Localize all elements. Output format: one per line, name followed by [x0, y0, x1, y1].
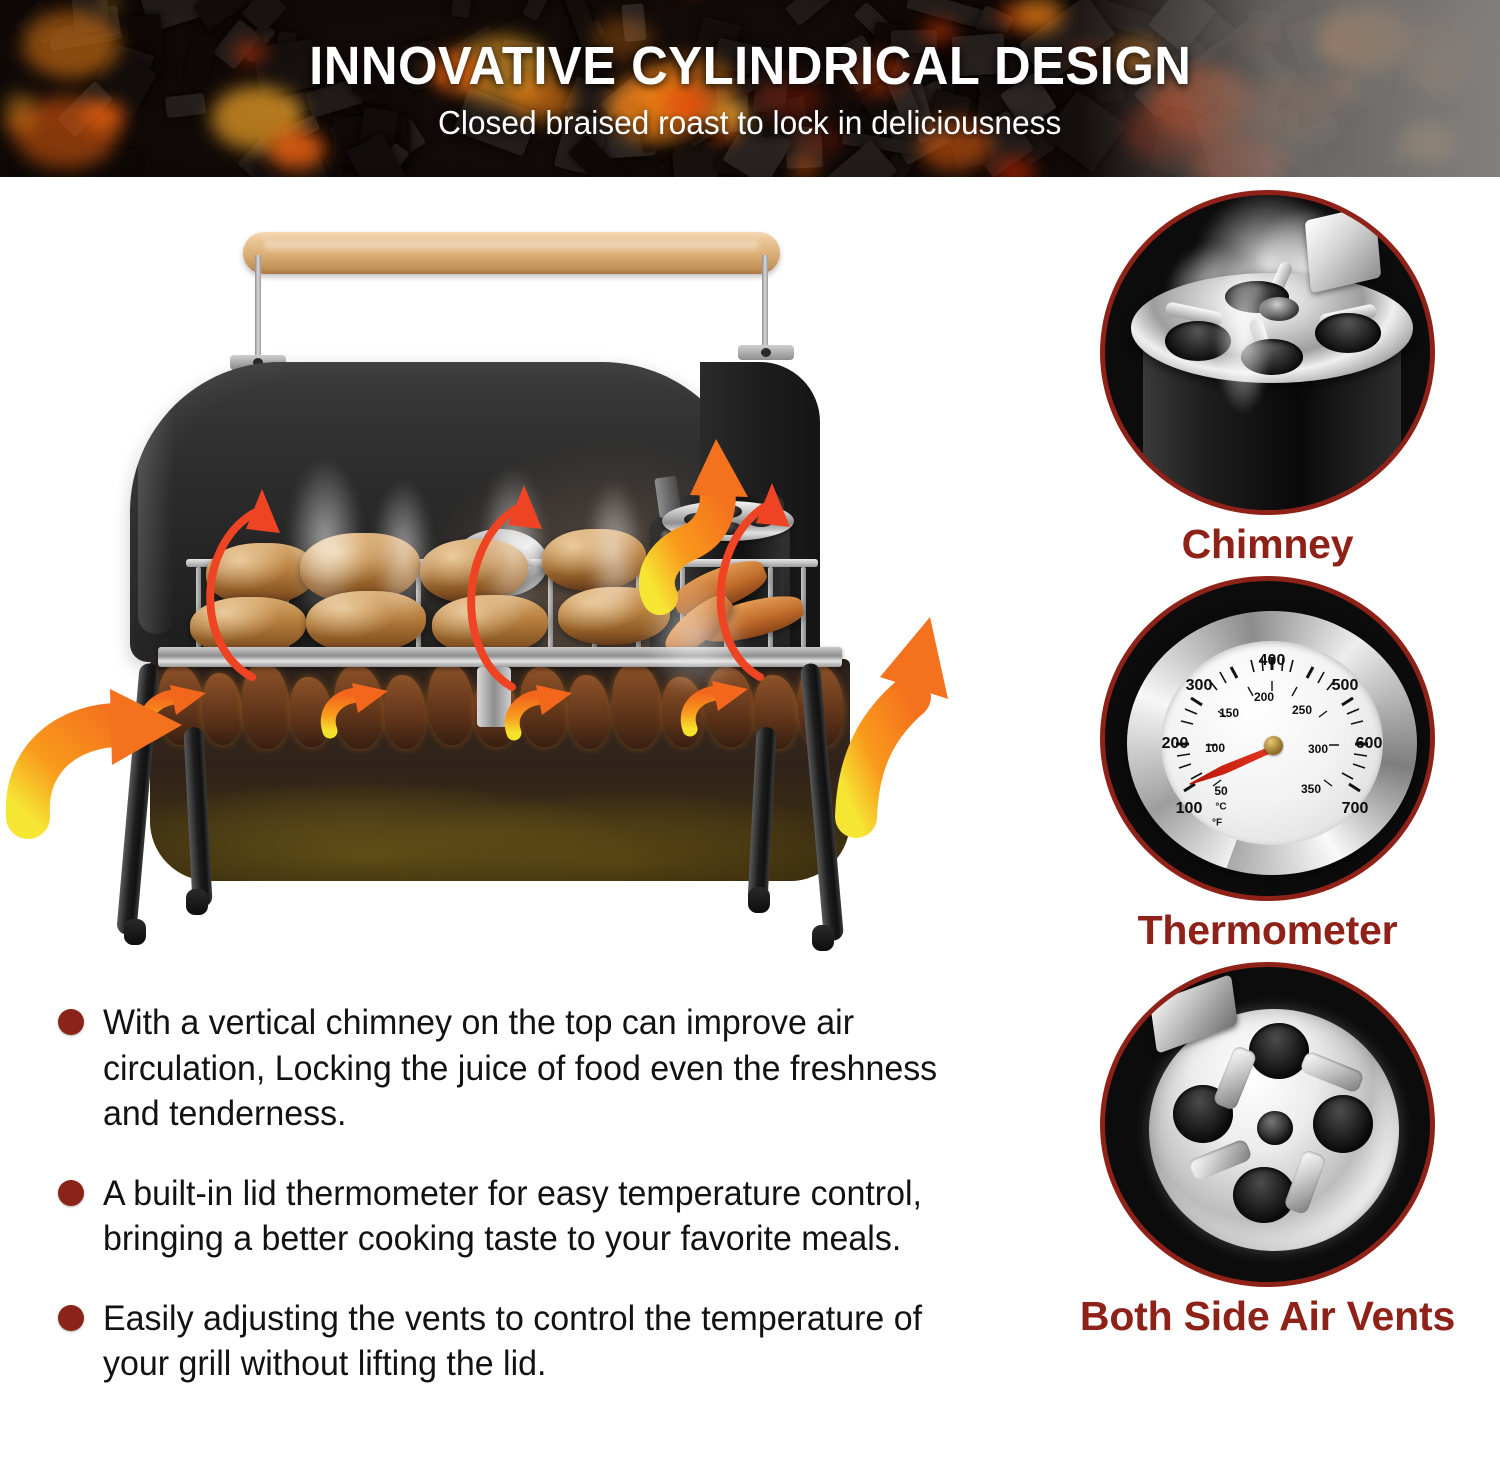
therm-f-700: 700	[1342, 800, 1369, 818]
product-illustration	[0, 177, 1010, 992]
thermometer-photo-circle: 100 200 300 400 500 600 700 50 100 150 2…	[1100, 576, 1435, 901]
thermometer-face: 100 200 300 400 500 600 700 50 100 150 2…	[1161, 641, 1383, 845]
therm-unit-celsius: °C	[1215, 802, 1226, 813]
bullet-dot-icon	[58, 1180, 84, 1206]
bullet-text: Easily adjusting the vents to control th…	[103, 1296, 952, 1387]
leg-foot	[812, 925, 834, 951]
therm-c-200: 200	[1254, 690, 1274, 704]
vent-hole	[1233, 1167, 1295, 1223]
bullet-dot-icon	[58, 1009, 84, 1035]
chimney-photo-circle	[1100, 190, 1435, 515]
bullet-text: A built-in lid thermometer for easy temp…	[103, 1171, 952, 1262]
vent-hole	[1313, 1095, 1373, 1153]
smoke-wisp	[640, 577, 750, 697]
banner-subtitle: Closed braised roast to lock in deliciou…	[438, 104, 1061, 142]
therm-c-300: 300	[1308, 742, 1328, 756]
vent-slot	[1212, 1045, 1257, 1111]
smoke-wisp	[478, 463, 548, 629]
list-item: With a vertical chimney on the top can i…	[58, 1000, 978, 1137]
leg-foot	[748, 887, 770, 913]
therm-f-600: 600	[1356, 735, 1383, 753]
therm-c-250: 250	[1292, 703, 1312, 717]
wooden-handle	[243, 232, 780, 274]
chimney-damper-tab	[1305, 205, 1381, 294]
handle-mount-right	[738, 345, 794, 360]
list-item: Easily adjusting the vents to control th…	[58, 1296, 978, 1387]
vent-center-screw	[1257, 1111, 1293, 1145]
header-banner: INNOVATIVE CYLINDRICAL DESIGN Closed bra…	[0, 0, 1500, 177]
feature-bullet-list: With a vertical chimney on the top can i…	[58, 1000, 978, 1421]
leg-foot	[186, 889, 208, 915]
vent-hole	[1249, 1023, 1309, 1079]
therm-f-100: 100	[1176, 800, 1203, 818]
therm-f-400: 400	[1259, 652, 1286, 670]
vent-hole	[716, 522, 742, 535]
thermometer-bezel: 100 200 300 400 500 600 700 50 100 150 2…	[1127, 611, 1417, 875]
feature-thermometer: 100 200 300 400 500 600 700 50 100 150 2…	[1035, 576, 1500, 954]
banner-title: INNOVATIVE CYLINDRICAL DESIGN	[309, 39, 1191, 94]
air-vent-photo-circle	[1100, 962, 1435, 1287]
feature-callout-column: Chimney	[1035, 190, 1500, 1348]
air-vent-damper-disc	[1149, 1009, 1399, 1251]
smoke-wisp	[286, 455, 364, 625]
vent-slot	[1299, 1050, 1365, 1094]
grate-latch	[477, 667, 511, 727]
smoke-wisp	[372, 477, 434, 627]
therm-f-300: 300	[1186, 677, 1213, 695]
circle-ring	[1100, 962, 1435, 1287]
vent-hole	[716, 505, 742, 518]
therm-unit-fahrenheit: °F	[1212, 818, 1222, 829]
feature-air-vents: Both Side Air Vents	[1035, 962, 1500, 1340]
vent-hole	[748, 514, 774, 527]
therm-f-500: 500	[1332, 677, 1359, 695]
bullet-dot-icon	[58, 1305, 84, 1331]
therm-c-150: 150	[1219, 706, 1239, 720]
feature-label-air-vents: Both Side Air Vents	[1035, 1293, 1500, 1340]
smoke-wisp	[584, 477, 644, 627]
thermometer-hub	[1264, 736, 1283, 755]
feature-label-chimney: Chimney	[1035, 521, 1500, 568]
handle-arm-left	[255, 255, 261, 360]
therm-f-200: 200	[1162, 735, 1189, 753]
feature-chimney: Chimney	[1035, 190, 1500, 568]
therm-c-350: 350	[1301, 782, 1321, 796]
chimney-vent-cap	[662, 501, 794, 541]
bullet-text: With a vertical chimney on the top can i…	[103, 1000, 952, 1137]
therm-c-100: 100	[1205, 741, 1225, 755]
feature-label-thermometer: Thermometer	[1035, 907, 1500, 954]
therm-c-50: 50	[1214, 784, 1227, 798]
circle-ring: 100 200 300 400 500 600 700 50 100 150 2…	[1100, 576, 1435, 901]
circle-ring	[1100, 190, 1435, 515]
vent-hole	[1315, 313, 1381, 353]
list-item: A built-in lid thermometer for easy temp…	[58, 1171, 978, 1262]
handle-arm-right	[762, 255, 768, 350]
vent-hole	[684, 513, 710, 526]
leg-foot	[124, 919, 146, 945]
